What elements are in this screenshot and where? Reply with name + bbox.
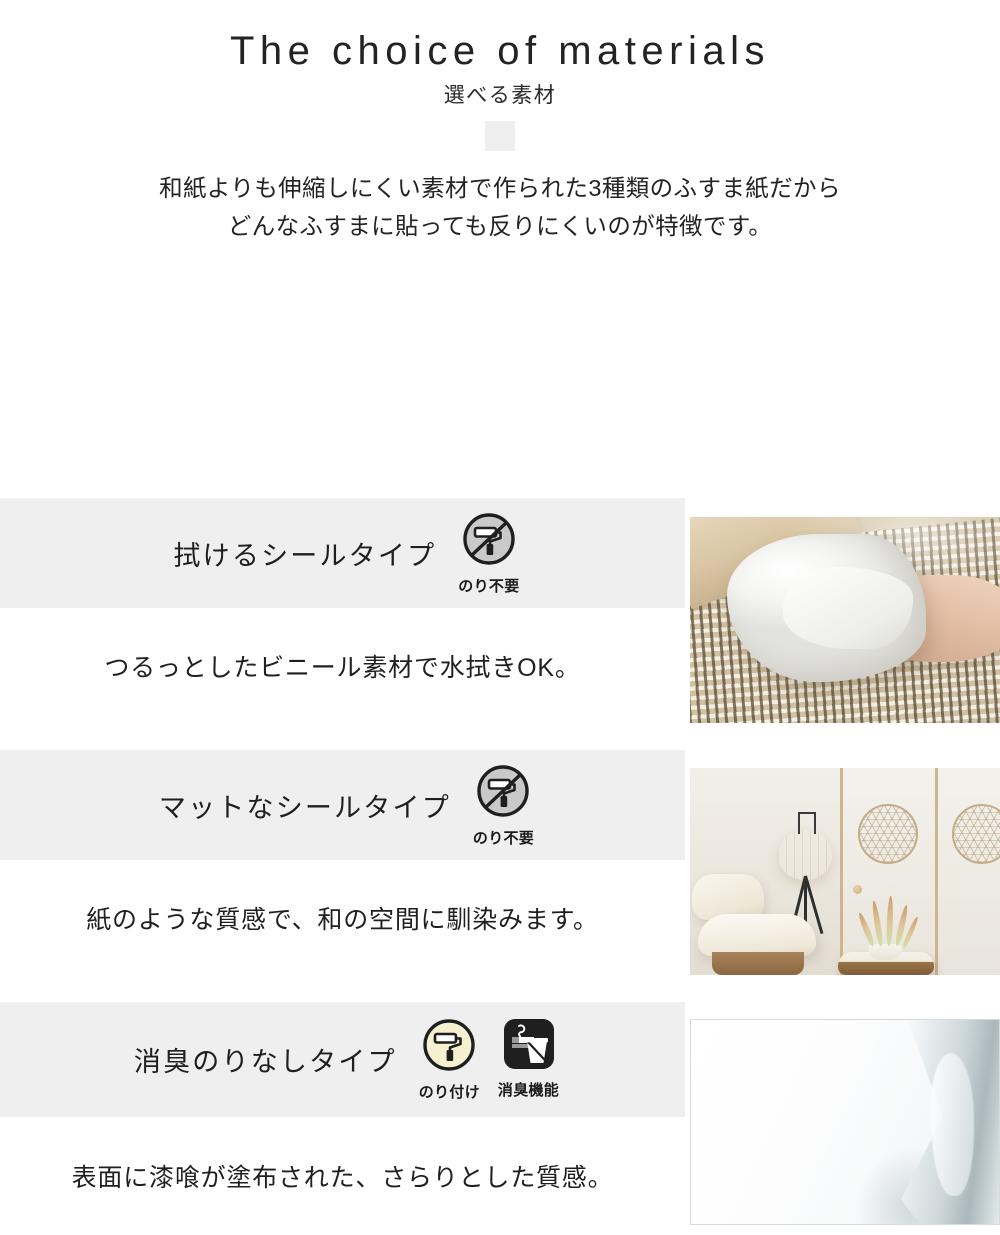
section-3-title: 消臭のりなしタイプ xyxy=(134,1040,397,1079)
badge-no-glue-label: のり不要 xyxy=(458,575,519,596)
section-2-badges: のり不要 xyxy=(473,763,534,848)
photo-towel-wiping-woven-surface xyxy=(690,517,1000,723)
page-title: The choice of materials xyxy=(0,26,1000,76)
deodorize-icon xyxy=(502,1017,556,1076)
badge-deodorize-label: 消臭機能 xyxy=(498,1079,559,1100)
plant-pot xyxy=(868,944,902,960)
section-2-title-band: マットなシールタイプ のり不要 xyxy=(0,750,685,860)
section-1-badges: のり不要 xyxy=(458,511,519,596)
photo-japanese-interior-room xyxy=(690,768,1000,975)
section-3-badges: のり付け xyxy=(419,1017,559,1102)
chair-base xyxy=(712,952,804,975)
header-lede: 和紙よりも伸縮しにくい素材で作られた3種類のふすま紙だから どんなふすまに貼って… xyxy=(0,169,1000,245)
section-3-title-band: 消臭のりなしタイプ のり付け xyxy=(0,1002,685,1117)
chair-seat xyxy=(698,914,816,956)
badge-no-glue: のり不要 xyxy=(458,511,519,596)
page-header: The choice of materials 選べる素材 和紙よりも伸縮しにく… xyxy=(0,0,1000,245)
section-1-description: つるっとしたビニール素材で水拭きOK。 xyxy=(104,648,580,684)
section-2-description: 紙のような質感で、和の空間に馴染みます。 xyxy=(86,900,599,936)
section-3-description-row: 表面に漆喰が塗布された、さらりとした質感。 xyxy=(0,1117,685,1235)
paper-lantern xyxy=(778,830,832,880)
paint-roller-icon xyxy=(421,1017,477,1078)
badge-no-glue: のり不要 xyxy=(473,763,534,848)
header-lede-line-2: どんなふすまに貼っても反りにくいのが特徴です。 xyxy=(0,207,1000,245)
section-2-description-row: 紙のような質感で、和の空間に馴染みます。 xyxy=(0,860,685,975)
section-1-description-row: つるっとしたビニール素材で水拭きOK。 xyxy=(0,608,685,723)
section-2-title: マットなシールタイプ xyxy=(159,786,451,825)
badge-deodorize: 消臭機能 xyxy=(498,1017,559,1100)
section-3-description: 表面に漆喰が塗布された、さらりとした質感。 xyxy=(72,1158,614,1194)
photo-white-paper-curl xyxy=(690,1019,1000,1225)
fusuma-panel-2 xyxy=(935,768,1000,975)
section-1-title: 拭けるシールタイプ xyxy=(173,534,436,573)
section-1-title-band: 拭けるシールタイプ のり不要 xyxy=(0,498,685,608)
lattice-circle-1 xyxy=(858,804,918,864)
paint-roller-prohibited-icon xyxy=(461,511,517,572)
badge-with-glue: のり付け xyxy=(419,1017,480,1102)
header-divider xyxy=(485,121,515,151)
header-lede-line-1: 和紙よりも伸縮しにくい素材で作られた3種類のふすま紙だから xyxy=(0,169,1000,207)
page-subtitle: 選べる素材 xyxy=(0,82,1000,109)
badge-with-glue-label: のり付け xyxy=(419,1081,480,1102)
badge-no-glue-label: のり不要 xyxy=(473,827,534,848)
paint-roller-prohibited-icon xyxy=(475,763,531,824)
